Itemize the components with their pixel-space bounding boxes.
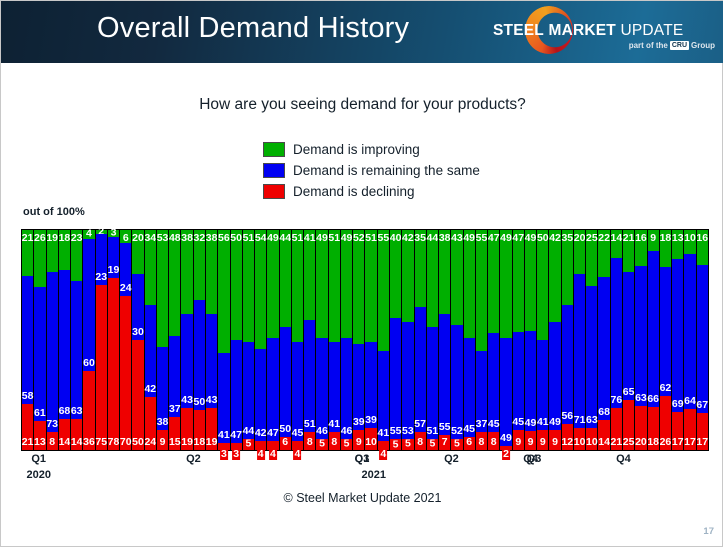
bar-segment-blue: 38	[157, 347, 168, 431]
bar-segment-green: 56	[218, 230, 229, 353]
bar-segment-green: 19	[47, 230, 58, 272]
bar-segment-red: 5	[316, 439, 327, 450]
chart-bar[interactable]: 49499	[525, 230, 537, 450]
bar-segment-red: 6	[280, 437, 291, 450]
chart-bar[interactable]: 215821	[22, 230, 34, 450]
bar-segment-red: 10	[586, 428, 597, 450]
bar-segment-value: 45	[463, 424, 475, 435]
bar-segment-blue: 65	[623, 272, 634, 401]
bar-segment-blue: 64	[684, 254, 695, 409]
bar-segment-blue: 51	[304, 320, 315, 432]
bar-segment-blue: 68	[598, 277, 609, 421]
chart-bar[interactable]: 50419	[537, 230, 549, 450]
bar-segment-value: 37	[169, 404, 181, 415]
copyright-text: © Steel Market Update 2021	[1, 491, 723, 505]
bar-segment-blue: 41	[218, 353, 229, 443]
bar-segment-value: 51	[304, 419, 316, 430]
chart-bar[interactable]: 49465	[341, 230, 353, 450]
bar-segment-green: 40	[390, 230, 401, 318]
bar-segment-red: 8	[47, 432, 58, 450]
bar-segment-red: 25	[623, 400, 634, 450]
bar-segment-blue: 69	[672, 259, 683, 412]
legend-item[interactable]: Demand is remaining the same	[263, 160, 480, 181]
bar-segment-value: 49	[549, 417, 561, 428]
chart-bar[interactable]: 42535	[402, 230, 414, 450]
bar-segment-green: 18	[660, 230, 671, 267]
bar-segment-green: 18	[59, 230, 70, 270]
bar-segment-value: 6	[282, 437, 288, 448]
bar-segment-red: 14	[71, 419, 82, 450]
chart-bar[interactable]: 50473	[231, 230, 243, 450]
chart-bar[interactable]: 513910	[365, 230, 377, 450]
bar-segment-red: 2	[500, 446, 511, 450]
chart-bar[interactable]: 96618	[648, 230, 660, 450]
x-axis-quarter-label: Q1	[31, 453, 46, 465]
chart-bar[interactable]: 49465	[316, 230, 328, 450]
chart-bar[interactable]: 203050	[132, 230, 144, 450]
bar-segment-green: 21	[623, 230, 634, 272]
bar-segment-value: 71	[574, 415, 586, 426]
bar-segment-blue: 41	[378, 351, 389, 441]
bar-segment-value: 46	[341, 426, 353, 437]
bar-segment-green: 21	[22, 230, 33, 276]
bar-segment-blue: 71	[574, 274, 585, 429]
bar-segment-red: 9	[537, 430, 548, 450]
x-axis-quarter-label: Q4	[616, 453, 631, 465]
bar-segment-value: 21	[611, 437, 623, 448]
bar-segment-green: 16	[697, 230, 708, 265]
chart-bar[interactable]: 47458	[488, 230, 500, 450]
chart-bar[interactable]: 186814	[59, 230, 71, 450]
bar-segment-value: 49	[500, 433, 512, 444]
bar-segment-green: 25	[586, 230, 597, 286]
bar-segment-green: 26	[34, 230, 45, 287]
bar-segment-value: 57	[414, 419, 426, 430]
chart-bar[interactable]: 56413	[218, 230, 230, 450]
bar-segment-red: 4	[378, 441, 389, 450]
chart-bar[interactable]: 52399	[353, 230, 365, 450]
bar-segment-value: 17	[672, 437, 684, 448]
bar-segment-green: 49	[464, 230, 475, 338]
bar-segment-green: 23	[71, 230, 82, 281]
bar-segment-green: 16	[635, 230, 646, 266]
bar-segment-red: 5	[243, 439, 254, 450]
bar-segment-value: 21	[623, 233, 635, 244]
bar-segment-blue: 73	[47, 272, 58, 433]
bar-segment-value: 9	[540, 437, 546, 448]
bar-segment-green: 49	[341, 230, 352, 338]
bar-segment-value: 5	[393, 439, 399, 450]
bar-segment-red: 5	[427, 439, 438, 450]
bar-segment-green: 55	[476, 230, 487, 351]
bar-segment-red: 36	[83, 371, 94, 450]
bar-segment-value: 42	[255, 428, 267, 439]
chart-bar[interactable]: 49474	[267, 230, 279, 450]
chart-legend: Demand is improvingDemand is remaining t…	[263, 139, 480, 202]
bar-segment-value: 20	[574, 233, 586, 244]
bar-segment-value: 51	[365, 233, 377, 244]
bar-segment-green: 38	[206, 230, 217, 314]
chart-bar[interactable]: 31978	[108, 230, 120, 450]
bar-segment-value: 14	[59, 437, 71, 448]
bar-segment-blue: 45	[488, 333, 499, 432]
bar-segment-red: 5	[390, 439, 401, 450]
bar-segment-blue: 52	[451, 325, 462, 439]
bar-segment-value: 23	[71, 233, 83, 244]
chart-bar[interactable]: 22375	[96, 230, 108, 450]
bar-segment-green: 51	[329, 230, 340, 342]
logo-wordmark: STEEL MARKET UPDATE	[493, 22, 719, 40]
logo-word-market: MARKET	[548, 22, 616, 39]
bar-segment-green: 54	[255, 230, 266, 349]
chart-bar[interactable]: 384319	[206, 230, 218, 450]
bar-segment-green: 20	[574, 230, 585, 274]
bar-segment-value: 19	[46, 233, 58, 244]
bar-segment-value: 64	[684, 396, 696, 407]
bar-segment-value: 67	[696, 400, 708, 411]
bar-segment-value: 46	[316, 426, 328, 437]
bar-segment-red: 8	[304, 432, 315, 450]
bar-segment-red: 9	[549, 430, 560, 450]
x-axis: Q1Q2Q3Q4Q1Q2Q3Q420202021	[21, 453, 709, 487]
bar-segment-value: 17	[684, 437, 696, 448]
bar-segment-value: 23	[95, 272, 107, 283]
bar-segment-value: 9	[650, 233, 656, 244]
chart-bar[interactable]: 207110	[574, 230, 586, 450]
bar-segment-value: 10	[365, 437, 377, 448]
bar-segment-green: 4	[83, 230, 94, 239]
bar-segment-blue: 39	[365, 342, 376, 428]
chart-bar[interactable]: 47459	[513, 230, 525, 450]
chart-bar[interactable]: 43525	[451, 230, 463, 450]
stacked-bar-chart: 2158212661131973818681423631446036223753…	[21, 229, 709, 451]
x-axis-quarter-label: Q2	[186, 453, 201, 465]
legend-item[interactable]: Demand is declining	[263, 181, 480, 202]
bar-segment-blue: 49	[525, 331, 536, 432]
chart-bar[interactable]: 344224	[145, 230, 157, 450]
bar-segment-red: 5	[402, 439, 413, 450]
chart-bar[interactable]: 226814	[598, 230, 610, 450]
bar-segment-value: 38	[439, 233, 451, 244]
bar-segment-value: 70	[120, 437, 132, 448]
bar-segment-value: 45	[512, 417, 524, 428]
bar-segment-value: 5	[344, 439, 350, 450]
bar-segment-red: 4	[255, 441, 266, 450]
chart-bar[interactable]: 147621	[611, 230, 623, 450]
bar-segment-value: 8	[491, 437, 497, 448]
bar-segment-green: 51	[292, 230, 303, 342]
chart-bar[interactable]: 216525	[623, 230, 635, 450]
bar-segment-value: 12	[561, 437, 573, 448]
legend-item[interactable]: Demand is improving	[263, 139, 480, 160]
bar-segment-value: 38	[206, 233, 218, 244]
bar-segment-value: 75	[95, 437, 107, 448]
bar-segment-value: 18	[660, 233, 672, 244]
logo-word-update: UPDATE	[620, 22, 683, 39]
bar-segment-blue: 24	[120, 243, 131, 296]
bar-segment-value: 78	[108, 437, 120, 448]
bar-segment-blue: 66	[648, 251, 659, 407]
bar-segment-value: 16	[696, 233, 708, 244]
bar-segment-value: 8	[331, 437, 337, 448]
bar-segment-value: 6	[466, 437, 472, 448]
bar-segment-value: 50	[132, 437, 144, 448]
bar-segment-blue: 60	[83, 239, 94, 371]
bar-segment-value: 69	[672, 399, 684, 410]
bar-segment-value: 52	[451, 426, 463, 437]
bar-segment-value: 14	[611, 233, 623, 244]
bar-segment-red: 4	[267, 441, 278, 450]
chart-bar[interactable]: 46036	[83, 230, 95, 450]
chart-bar[interactable]: 106417	[684, 230, 696, 450]
chart-bar[interactable]: 35578	[415, 230, 427, 450]
chart-bar[interactable]: 53389	[157, 230, 169, 450]
bar-segment-green: 50	[537, 230, 548, 340]
bar-segment-value: 9	[528, 437, 534, 448]
bar-segment-red: 70	[120, 296, 131, 450]
bar-segment-value: 51	[243, 233, 255, 244]
logo-subtitle: part of theCRUGroup	[493, 41, 715, 50]
bar-segment-red: 18	[648, 407, 659, 450]
bar-segment-value: 10	[574, 437, 586, 448]
bar-segment-green: 42	[549, 230, 560, 322]
bar-segment-value: 43	[181, 395, 193, 406]
bar-segment-red: 19	[206, 408, 217, 450]
bar-segment-blue: 39	[353, 344, 364, 430]
bar-segment-value: 37	[476, 419, 488, 430]
chart-bar[interactable]: 256310	[586, 230, 598, 450]
bar-segment-blue: 51	[427, 327, 438, 439]
chart-bar[interactable]: 325018	[194, 230, 206, 450]
bar-segment-red: 24	[145, 397, 156, 450]
bar-segment-green: 48	[169, 230, 180, 336]
bar-segment-blue: 57	[415, 307, 426, 432]
bar-segment-value: 7	[442, 437, 448, 448]
bar-segment-value: 50	[194, 397, 206, 408]
bar-segment-blue: 42	[255, 349, 266, 441]
bar-segment-green: 9	[648, 230, 659, 251]
chart-bar[interactable]: 355612	[562, 230, 574, 450]
chart-bar[interactable]: 44515	[427, 230, 439, 450]
chart-bar[interactable]: 62470	[120, 230, 132, 450]
chart-bar[interactable]: 384319	[181, 230, 193, 450]
x-axis-quarter-label: Q2	[444, 453, 459, 465]
chart-bar[interactable]: 38557	[439, 230, 451, 450]
bar-segment-value: 30	[132, 327, 144, 338]
bar-segment-value: 35	[414, 233, 426, 244]
bar-segment-red: 10	[365, 428, 376, 450]
logo-word-steel: STEEL	[493, 22, 544, 39]
bar-segment-green: 51	[243, 230, 254, 342]
chart-bar[interactable]: 136917	[672, 230, 684, 450]
bar-segment-blue: 45	[464, 338, 475, 437]
bar-segment-value: 51	[427, 426, 439, 437]
bar-segment-value: 66	[647, 394, 659, 405]
bar-segment-red: 14	[59, 419, 70, 450]
bar-segment-value: 41	[328, 419, 340, 430]
chart-bar[interactable]: 55378	[476, 230, 488, 450]
bar-segment-value: 45	[488, 419, 500, 430]
chart-bar[interactable]: 19738	[47, 230, 59, 450]
bar-segment-value: 62	[660, 383, 672, 394]
bar-segment-value: 15	[169, 437, 181, 448]
bar-segment-value: 9	[552, 437, 558, 448]
chart-bar[interactable]: 266113	[34, 230, 46, 450]
bar-segment-value: 54	[255, 233, 267, 244]
bar-segment-red: 17	[672, 412, 683, 450]
legend-item-label: Demand is declining	[293, 184, 415, 199]
bar-segment-value: 8	[479, 437, 485, 448]
bar-segment-value: 40	[390, 233, 402, 244]
bar-segment-value: 19	[181, 437, 193, 448]
bar-segment-value: 55	[390, 426, 402, 437]
bar-segment-value: 5	[429, 439, 435, 450]
bar-segment-red: 75	[96, 285, 107, 450]
chart-bar[interactable]: 41518	[304, 230, 316, 450]
bar-segment-green: 14	[611, 230, 622, 258]
x-axis-year-label: 2020	[27, 469, 51, 481]
bar-segment-value: 43	[206, 395, 218, 406]
bar-segment-value: 53	[157, 233, 169, 244]
bar-segment-blue: 58	[22, 276, 33, 404]
bar-segment-value: 38	[181, 233, 193, 244]
bar-segment-green: 50	[231, 230, 242, 340]
slide-footer: 17	[1, 523, 723, 541]
chart-bar[interactable]: 236314	[71, 230, 83, 450]
bar-segment-red: 6	[464, 437, 475, 450]
bar-segment-red: 4	[292, 441, 303, 450]
bar-segment-blue: 61	[34, 287, 45, 421]
chart-bar[interactable]: 42499	[549, 230, 561, 450]
bar-segment-red: 8	[476, 432, 487, 450]
bar-segment-blue: 49	[549, 322, 560, 430]
bar-segment-blue: 50	[280, 327, 291, 437]
chart-bar[interactable]: 483715	[169, 230, 181, 450]
bar-segment-value: 26	[34, 233, 46, 244]
chart-bar[interactable]: 40555	[390, 230, 402, 450]
bar-segment-green: 49	[316, 230, 327, 338]
bar-segment-red: 8	[415, 432, 426, 450]
bar-segment-value: 5	[245, 439, 251, 450]
bar-segment-blue: 55	[439, 314, 450, 435]
bar-segment-blue: 63	[635, 266, 646, 406]
bar-segment-value: 8	[417, 437, 423, 448]
chart-bar[interactable]: 166717	[697, 230, 708, 450]
legend-item-label: Demand is remaining the same	[293, 163, 480, 178]
bar-segment-value: 25	[623, 437, 635, 448]
bar-segment-green: 22	[598, 230, 609, 277]
bar-segment-red: 8	[329, 432, 340, 450]
bar-segment-value: 73	[46, 419, 58, 430]
bar-segment-value: 18	[59, 233, 71, 244]
bar-segment-value: 49	[525, 418, 537, 429]
bar-segment-value: 47	[512, 233, 524, 244]
bar-segment-value: 48	[169, 233, 181, 244]
chart-bar[interactable]: 186226	[660, 230, 672, 450]
chart-bar[interactable]: 51418	[329, 230, 341, 450]
bar-segment-value: 22	[598, 233, 610, 244]
logo-sub-prefix: part of the	[629, 41, 668, 50]
bar-segment-blue: 67	[697, 265, 708, 412]
bar-segment-blue: 63	[586, 286, 597, 427]
bar-segment-green: 13	[672, 230, 683, 259]
bar-segment-value: 42	[549, 233, 561, 244]
bar-segment-red: 9	[513, 430, 524, 450]
bar-segment-red: 5	[451, 439, 462, 450]
bar-segment-blue: 63	[71, 281, 82, 420]
bar-segment-value: 58	[22, 391, 34, 402]
bar-segment-red: 10	[574, 428, 585, 450]
chart-bar[interactable]: 51454	[292, 230, 304, 450]
bar-segment-value: 9	[160, 437, 166, 448]
chart-bar[interactable]: 44506	[280, 230, 292, 450]
bar-segment-blue: 41	[329, 342, 340, 432]
bar-segment-value: 36	[83, 437, 95, 448]
bar-segment-blue: 45	[292, 342, 303, 441]
bar-segment-value: 42	[144, 384, 156, 395]
bar-segment-green: 6	[120, 230, 131, 243]
bar-segment-red: 7	[439, 435, 450, 450]
bar-segment-value: 55	[476, 233, 488, 244]
chart-bar[interactable]: 49492	[500, 230, 512, 450]
bar-segment-green: 47	[513, 230, 524, 332]
chart-bar[interactable]: 55414	[378, 230, 390, 450]
bar-segment-green: 53	[157, 230, 168, 347]
bar-segment-value: 13	[34, 437, 46, 448]
bar-segment-value: 50	[279, 424, 291, 435]
bar-segment-value: 55	[439, 422, 451, 433]
bar-segment-value: 16	[635, 233, 647, 244]
bar-segment-value: 25	[586, 233, 598, 244]
bar-segment-blue: 47	[267, 338, 278, 441]
bar-segment-blue: 23	[96, 234, 107, 285]
bar-segment-value: 17	[696, 437, 708, 448]
chart-bar[interactable]: 166320	[635, 230, 647, 450]
bar-segment-green: 47	[488, 230, 499, 333]
chart-bar[interactable]: 54424	[255, 230, 267, 450]
bar-segment-blue: 19	[108, 237, 119, 279]
bar-segment-value: 18	[194, 437, 206, 448]
bar-segment-value: 14	[71, 437, 83, 448]
bar-segment-red: 12	[562, 424, 573, 450]
bar-segment-red: 9	[525, 431, 536, 450]
y-axis-note: out of 100%	[23, 206, 85, 218]
bar-segment-value: 43	[451, 233, 463, 244]
bar-segment-red: 3	[231, 443, 242, 450]
chart-bar[interactable]: 51445	[243, 230, 255, 450]
bar-segment-value: 49	[525, 233, 537, 244]
bar-segment-green: 3	[108, 230, 119, 237]
cru-chip-icon: CRU	[670, 41, 689, 50]
x-axis-year-label: 2021	[362, 469, 386, 481]
bar-segment-value: 65	[623, 387, 635, 398]
bar-segment-blue: 42	[145, 305, 156, 397]
bar-segment-blue: 53	[402, 322, 413, 439]
bar-segment-value: 24	[120, 283, 132, 294]
bar-segment-green: 49	[267, 230, 278, 338]
chart-bar[interactable]: 49456	[464, 230, 476, 450]
bar-segment-blue: 30	[132, 274, 143, 340]
bar-segment-green: 42	[402, 230, 413, 322]
bar-segment-blue: 44	[243, 342, 254, 439]
bar-segment-red: 21	[611, 408, 622, 450]
bar-segment-red: 50	[132, 340, 143, 450]
bar-segment-blue: 46	[316, 338, 327, 439]
bar-segment-green: 43	[451, 230, 462, 325]
bar-segment-red: 26	[660, 396, 671, 450]
bar-segment-green: 49	[525, 230, 536, 331]
bar-segment-value: 52	[353, 233, 365, 244]
